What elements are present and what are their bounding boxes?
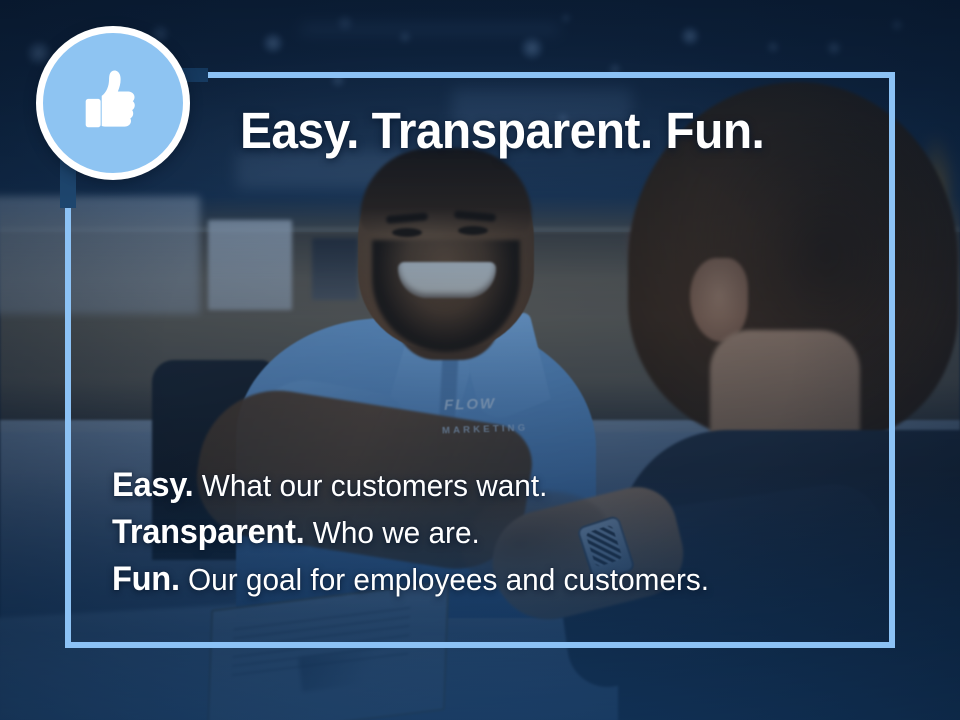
- value-prop-item: Transparent. Who we are.: [112, 509, 709, 556]
- value-prop-lead: Easy.: [112, 466, 193, 504]
- thumbs-up-icon: [71, 61, 155, 145]
- value-prop-detail: Our goal for employees and customers.: [188, 562, 709, 597]
- thumbs-up-badge: [36, 26, 190, 180]
- value-prop-item: Easy. What our customers want.: [112, 462, 709, 509]
- value-prop-detail: What our customers want.: [202, 468, 548, 503]
- hero-banner: FLOW MARKETING Easy. Transparent. Fun: [0, 0, 960, 720]
- value-prop-detail: Who we are.: [313, 515, 480, 550]
- page-title: Easy. Transparent. Fun.: [240, 101, 764, 160]
- value-prop-item: Fun. Our goal for employees and customer…: [112, 556, 709, 603]
- value-prop-lead: Fun.: [112, 560, 180, 598]
- value-prop-list: Easy. What our customers want. Transpare…: [112, 462, 734, 603]
- value-prop-lead: Transparent.: [112, 513, 304, 551]
